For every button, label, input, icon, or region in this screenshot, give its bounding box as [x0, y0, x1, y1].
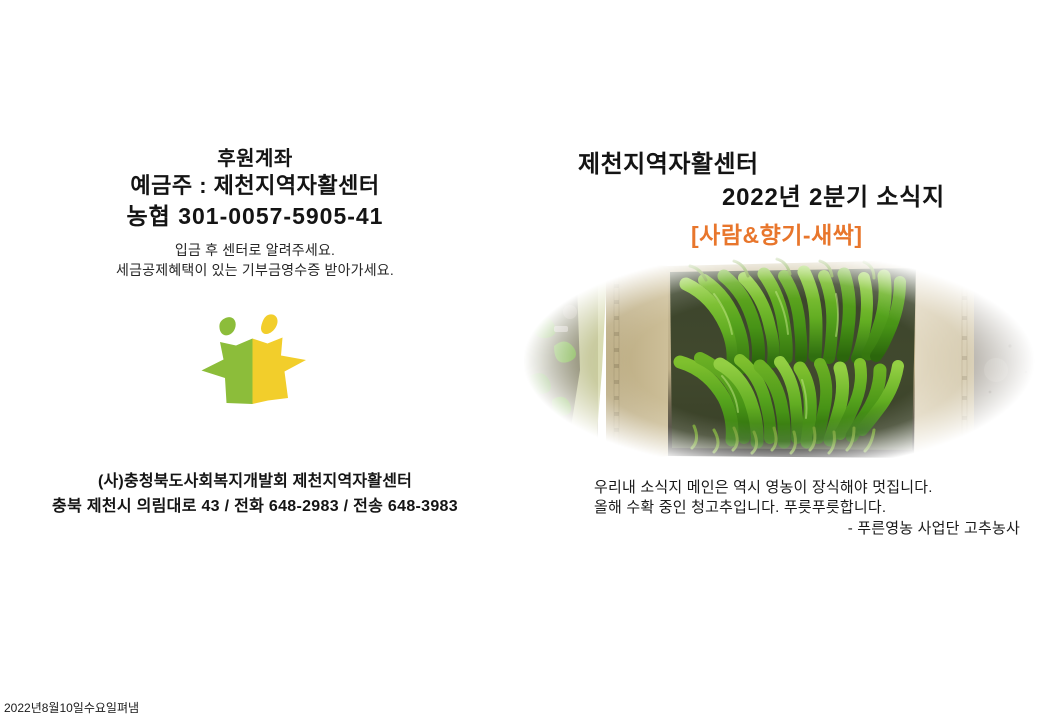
green-chili-peppers-photo: [518, 250, 1040, 472]
back-cover-panel: 후원계좌 예금주 : 제천지역자활센터 농협 301-0057-5905-41 …: [0, 0, 510, 690]
center-logo: [196, 312, 314, 408]
caption-credit: - 푸른영농 사업단 고추농사: [594, 518, 1024, 540]
caption-line: 올해 수확 중인 청고추입니다. 푸릇푸릇합니다.: [594, 498, 1024, 518]
newsletter-title-line-2: 2022년 2분기 소식지: [722, 177, 945, 212]
front-cover-panel: 제천지역자활센터 2022년 2분기 소식지 [사람&향기-새싹]: [510, 0, 1040, 690]
cover-photo-image: [518, 250, 1040, 472]
newsletter-subtitle: [사람&향기-새싹]: [691, 216, 863, 250]
donation-account-number: 농협 301-0057-5905-41: [0, 201, 510, 231]
newsletter-page: 후원계좌 예금주 : 제천지역자활센터 농협 301-0057-5905-41 …: [0, 0, 1040, 720]
donation-note-line: 입금 후 센터로 알려주세요.: [0, 240, 510, 260]
donation-account-holder: 예금주 : 제천지역자활센터: [0, 172, 510, 200]
organization-name: (사)충청북도사회복지개발회 제천지역자활센터: [0, 470, 510, 494]
organization-address: 충북 제천시 의림대로 43 / 전화 648-2983 / 전송 648-39…: [0, 494, 510, 520]
publish-date-stamp: 2022년8월10일수요일펴냄: [4, 700, 139, 716]
photo-caption: 우리내 소식지 메인은 역시 영농이 장식해야 멋집니다. 올해 수확 중인 청…: [594, 478, 1024, 540]
donation-heading: 후원계좌: [0, 146, 510, 172]
newsletter-title-line-1: 제천지역자활센터: [578, 144, 759, 179]
caption-line: 우리내 소식지 메인은 역시 영농이 장식해야 멋집니다.: [594, 478, 1024, 498]
donation-notes: 입금 후 센터로 알려주세요. 세금공제혜택이 있는 기부금영수증 받아가세요.: [0, 240, 510, 280]
organization-footer: (사)충청북도사회복지개발회 제천지역자활센터 충북 제천시 의림대로 43 /…: [0, 470, 510, 520]
logo-star-splat-icon: [196, 312, 314, 408]
donation-account-block: 후원계좌 예금주 : 제천지역자활센터 농협 301-0057-5905-41 …: [0, 146, 510, 280]
donation-note-line: 세금공제혜택이 있는 기부금영수증 받아가세요.: [0, 260, 510, 280]
cover-photo: [518, 250, 1040, 472]
